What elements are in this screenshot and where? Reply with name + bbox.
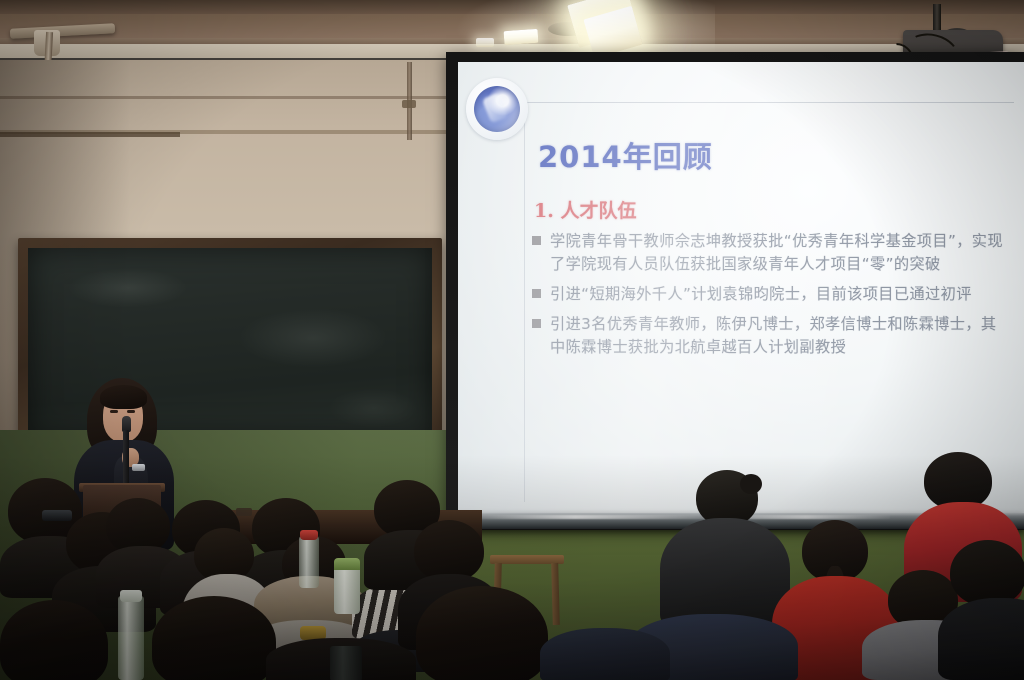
light-tube: [504, 29, 539, 45]
water-bottle-2: [299, 536, 319, 588]
student-jacket: [540, 628, 670, 680]
university-emblem-icon: [466, 78, 528, 140]
slide-title: 2014年回顾: [538, 134, 713, 176]
bullet-square-icon: [532, 319, 541, 328]
water-bottle-cap: [120, 590, 142, 602]
presenter-fringe: [100, 385, 147, 409]
lecture-hall-photo: 2014年回顾 1. 人才队伍 学院青年骨干教师佘志坤教授获批“优秀青年科学基金…: [0, 0, 1024, 680]
presenter-wristwatch: [132, 464, 145, 471]
thermos-flask-lid: [334, 558, 360, 570]
student-hair: [0, 600, 108, 680]
slide-bullet-text: 学院青年骨干教师佘志坤教授获批“优秀青年科学基金项目”，实现了学院现有人员队伍获…: [550, 230, 1012, 276]
slide-section-heading: 1. 人才队伍: [534, 196, 636, 223]
slide-bullet-list: 学院青年骨干教师佘志坤教授获批“优秀青年科学基金项目”，实现了学院现有人员队伍获…: [532, 230, 1012, 366]
slide-bullet-text: 引进“短期海外千人”计划袁锦昀院士，目前该项目已通过初评: [550, 283, 972, 306]
slide-divider-vertical: [524, 102, 525, 502]
student-back-row-dark-jacket: [660, 470, 790, 630]
water-bottle-2-cap: [300, 530, 318, 540]
slide-divider-horizontal: [524, 102, 1014, 103]
ceiling-beam: [0, 0, 1024, 14]
student-hair: [950, 540, 1024, 606]
bullet-square-icon: [532, 289, 541, 298]
projection-screen: 2014年回顾 1. 人才队伍 学院青年骨干教师佘志坤教授获批“优秀青年科学基金…: [458, 62, 1024, 517]
bullet-square-icon: [532, 236, 541, 245]
thermos-flask-2: [330, 646, 362, 680]
wall-conduit-clip: [402, 100, 416, 108]
student-hair: [152, 596, 276, 680]
slide-bullet-item: 引进3名优秀青年教师，陈伊凡博士，郑孝信博士和陈霖博士，其中陈霖博士获批为北航卓…: [532, 313, 1012, 359]
student-hair: [416, 586, 548, 680]
slide-bullet-text: 引进3名优秀青年教师，陈伊凡博士，郑孝信博士和陈霖博士，其中陈霖博士获批为北航卓…: [550, 313, 1012, 359]
student-hair: [414, 520, 484, 582]
water-bottle: [118, 596, 144, 680]
student-black-jacket-right: [938, 540, 1024, 680]
student-hair-bun: [740, 474, 762, 494]
thermos-flask: [334, 564, 360, 614]
university-emblem-inner: [474, 86, 520, 132]
student-front-far-left: [0, 600, 130, 680]
student-jacket: [938, 598, 1024, 680]
slide-bullet-item: 学院青年骨干教师佘志坤教授获批“优秀青年科学基金项目”，实现了学院现有人员队伍获…: [532, 230, 1012, 276]
slide-bullet-item: 引进“短期海外千人”计划袁锦昀院士，目前该项目已通过初评: [532, 283, 1012, 306]
student-front-right: [540, 628, 670, 680]
light-tube: [476, 38, 494, 47]
presentation-slide: 2014年回顾 1. 人才队伍 学院青年骨干教师佘志坤教授获批“优秀青年科学基金…: [458, 62, 1024, 517]
